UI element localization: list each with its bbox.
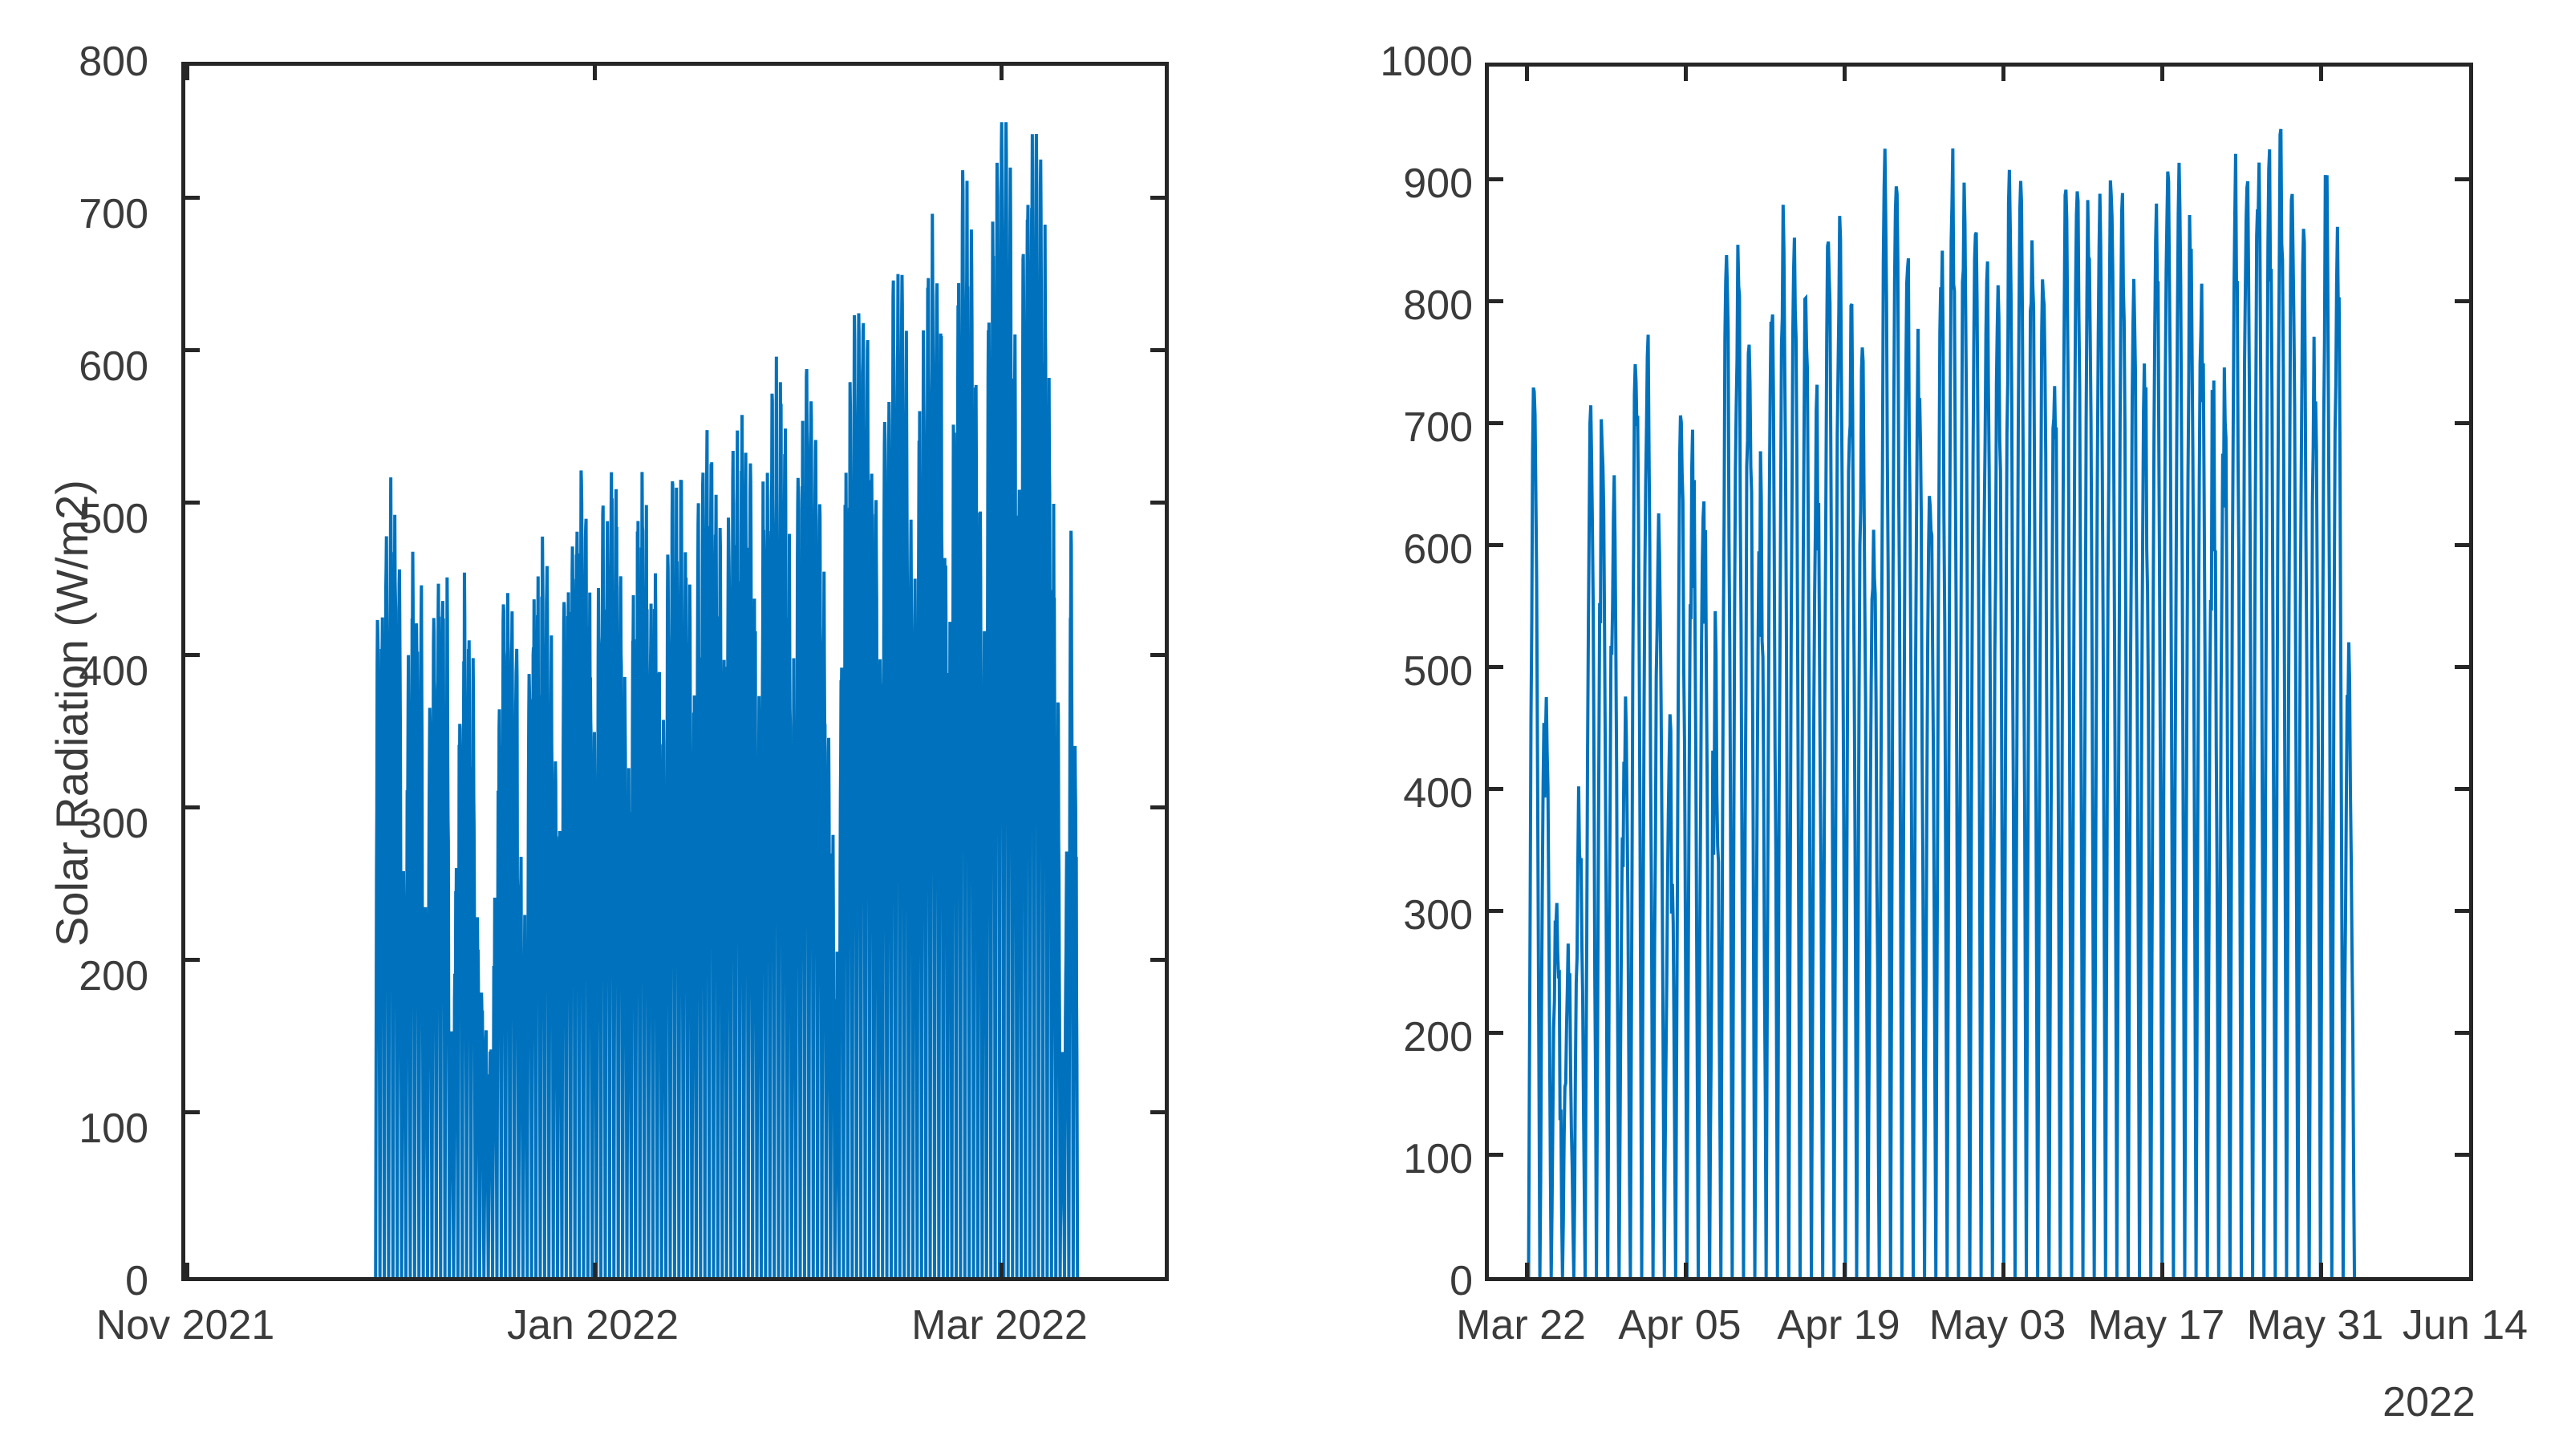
right-data-series — [1489, 67, 2469, 1277]
right-ytick-mark-300 — [1489, 909, 1503, 913]
left-ytick-mark-500 — [185, 501, 200, 505]
right-xtick-mark-apr19 — [1843, 1263, 1847, 1277]
right-ytick-label-300: 300 — [1336, 894, 1473, 936]
right-ytick-mark-400 — [1489, 787, 1503, 791]
left-subplot: Solar Radiation (W/m2) 0 100 200 300 400… — [0, 0, 1251, 1456]
left-y-axis-title: Solar Radiation (W/m2) — [50, 480, 95, 947]
left-ytick-mark-300 — [185, 805, 200, 809]
right-ytick-mark-900 — [1489, 177, 1503, 181]
right-axes-box — [1485, 63, 2473, 1281]
right-xtick-mark-may17 — [2160, 1263, 2164, 1277]
left-ytick-mark-right-400 — [1150, 653, 1165, 657]
right-ytick-mark-right-400 — [2455, 787, 2469, 791]
left-ytick-mark-200 — [185, 958, 200, 962]
left-ytick-mark-400 — [185, 653, 200, 657]
left-xtick-mark-jan2022 — [593, 1263, 597, 1277]
right-xtick-mark-jun14 — [2469, 1263, 2473, 1277]
right-ytick-mark-500 — [1489, 665, 1503, 669]
left-ytick-mark-right-600 — [1150, 348, 1165, 352]
right-xtick-mark-top-apr19 — [1843, 67, 1847, 81]
left-axes-box — [181, 62, 1169, 1281]
right-ytick-label-400: 400 — [1336, 773, 1473, 814]
left-ytick-label-200: 200 — [8, 955, 148, 997]
right-xtick-mark-top-may31 — [2319, 67, 2323, 81]
right-ytick-label-800: 800 — [1336, 285, 1473, 326]
right-ytick-label-100: 100 — [1336, 1138, 1473, 1180]
right-ytick-mark-right-100 — [2455, 1153, 2469, 1157]
left-xtick-label-nov2021: Nov 2021 — [25, 1304, 346, 1346]
right-xtick-mark-may03 — [2001, 1263, 2005, 1277]
right-ytick-mark-800 — [1489, 299, 1503, 303]
left-ytick-mark-right-200 — [1150, 958, 1165, 962]
right-xtick-mark-top-mar22 — [1525, 67, 1529, 81]
left-xtick-label-mar2022: Mar 2022 — [839, 1304, 1160, 1346]
right-ytick-label-700: 700 — [1336, 407, 1473, 448]
right-plot-canvas — [1489, 67, 2469, 1277]
right-ytick-label-500: 500 — [1336, 651, 1473, 692]
right-xtick-mark-top-may03 — [2001, 67, 2005, 81]
right-subplot: 0 100 200 300 400 500 600 700 800 900 10… — [1251, 0, 2567, 1456]
left-xtick-mark-mar2022 — [1000, 1263, 1004, 1277]
left-xtick-mark-nov2021 — [185, 1263, 189, 1277]
right-ytick-mark-right-600 — [2455, 543, 2469, 547]
right-ytick-mark-right-800 — [2455, 299, 2469, 303]
right-ytick-label-200: 200 — [1336, 1016, 1473, 1058]
left-ytick-label-800: 800 — [8, 41, 148, 83]
right-xtick-mark-top-jun14 — [2469, 67, 2473, 81]
right-xtick-mark-may31 — [2319, 1263, 2323, 1277]
right-xtick-mark-top-apr05 — [1684, 67, 1688, 81]
right-ytick-mark-right-500 — [2455, 665, 2469, 669]
right-ytick-mark-200 — [1489, 1031, 1503, 1035]
right-xaxis-year-label: 2022 — [2309, 1381, 2549, 1423]
right-xtick-mark-mar22 — [1525, 1263, 1529, 1277]
left-ytick-mark-right-500 — [1150, 501, 1165, 505]
right-ytick-mark-right-900 — [2455, 177, 2469, 181]
right-ytick-label-600: 600 — [1336, 529, 1473, 570]
right-ytick-mark-right-700 — [2455, 421, 2469, 425]
figure-root: Solar Radiation (W/m2) 0 100 200 300 400… — [0, 0, 2567, 1456]
left-ytick-label-100: 100 — [8, 1108, 148, 1150]
right-ytick-label-1000: 1000 — [1324, 41, 1473, 83]
right-ytick-label-900: 900 — [1336, 163, 1473, 205]
left-ytick-label-300: 300 — [8, 803, 148, 845]
left-ytick-mark-600 — [185, 348, 200, 352]
left-xtick-mark-top-nov2021 — [185, 66, 189, 80]
left-xtick-mark-top-mar2022 — [1000, 66, 1004, 80]
left-ytick-label-700: 700 — [8, 193, 148, 235]
left-ytick-mark-right-100 — [1150, 1110, 1165, 1114]
right-xtick-mark-top-may17 — [2160, 67, 2164, 81]
left-data-series — [185, 66, 1165, 1277]
right-xtick-mark-apr05 — [1684, 1263, 1688, 1277]
right-ytick-mark-right-300 — [2455, 909, 2469, 913]
left-ytick-label-500: 500 — [8, 498, 148, 540]
right-ytick-label-0: 0 — [1336, 1260, 1473, 1302]
right-ytick-mark-100 — [1489, 1153, 1503, 1157]
right-ytick-mark-600 — [1489, 543, 1503, 547]
left-xtick-mark-top-jan2022 — [593, 66, 597, 80]
left-ytick-label-400: 400 — [8, 651, 148, 692]
right-xtick-label-jun14: Jun 14 — [2345, 1304, 2567, 1346]
left-ytick-mark-100 — [185, 1110, 200, 1114]
left-plot-canvas — [185, 66, 1165, 1277]
left-ytick-label-0: 0 — [8, 1260, 148, 1302]
right-ytick-mark-700 — [1489, 421, 1503, 425]
left-xtick-label-jan2022: Jan 2022 — [432, 1304, 753, 1346]
left-ytick-mark-700 — [185, 196, 200, 200]
left-ytick-mark-right-700 — [1150, 196, 1165, 200]
left-ytick-mark-right-300 — [1150, 805, 1165, 809]
left-ytick-label-600: 600 — [8, 346, 148, 387]
right-ytick-mark-right-200 — [2455, 1031, 2469, 1035]
